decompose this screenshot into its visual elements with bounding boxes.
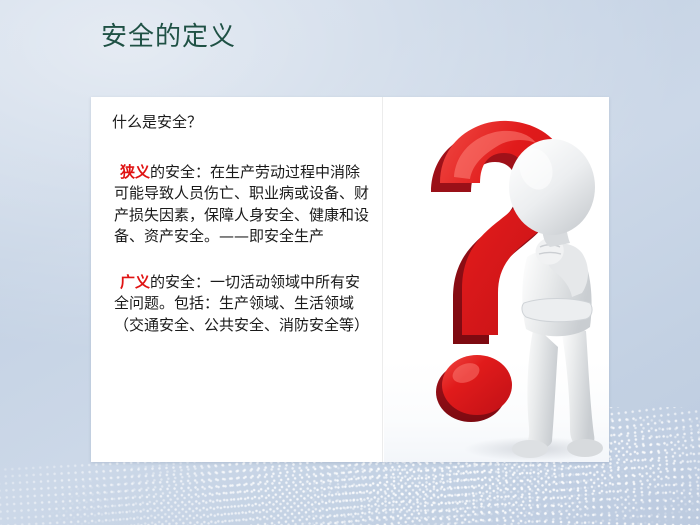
broad-definition-text: 的安全：一切活动领域中所有安全问题。包括：生产领域、生活领域（交通安全、公共安全…: [114, 273, 369, 334]
thinking-figure: [509, 139, 603, 458]
broad-definition-paragraph: 广义的安全：一切活动领域中所有安全问题。包括：生产领域、生活领域（交通安全、公共…: [106, 272, 372, 337]
narrow-definition-text: 的安全：在生产劳动过程中消除可能导致人员伤亡、职业病或设备、财产损失因素，保障人…: [114, 163, 369, 246]
narrow-definition-keyword: 狭义: [120, 163, 150, 181]
definition-text-column: 什么是安全？ 狭义的安全：在生产劳动过程中消除可能导致人员伤亡、职业病或设备、财…: [91, 97, 383, 462]
broad-definition-keyword: 广义: [120, 273, 150, 291]
illustration-panel: [384, 97, 609, 462]
narrow-definition-paragraph: 狭义的安全：在生产劳动过程中消除可能导致人员伤亡、职业病或设备、财产损失因素，保…: [106, 162, 372, 248]
question-heading: 什么是安全？: [106, 112, 372, 134]
content-card: 什么是安全？ 狭义的安全：在生产劳动过程中消除可能导致人员伤亡、职业病或设备、财…: [91, 97, 609, 462]
question-mark-illustration: [384, 97, 609, 462]
presentation-slide: 安全的定义 什么是安全？ 狭义的安全：在生产劳动过程中消除可能导致人员伤亡、职业…: [0, 0, 700, 525]
page-title: 安全的定义: [101, 20, 236, 54]
